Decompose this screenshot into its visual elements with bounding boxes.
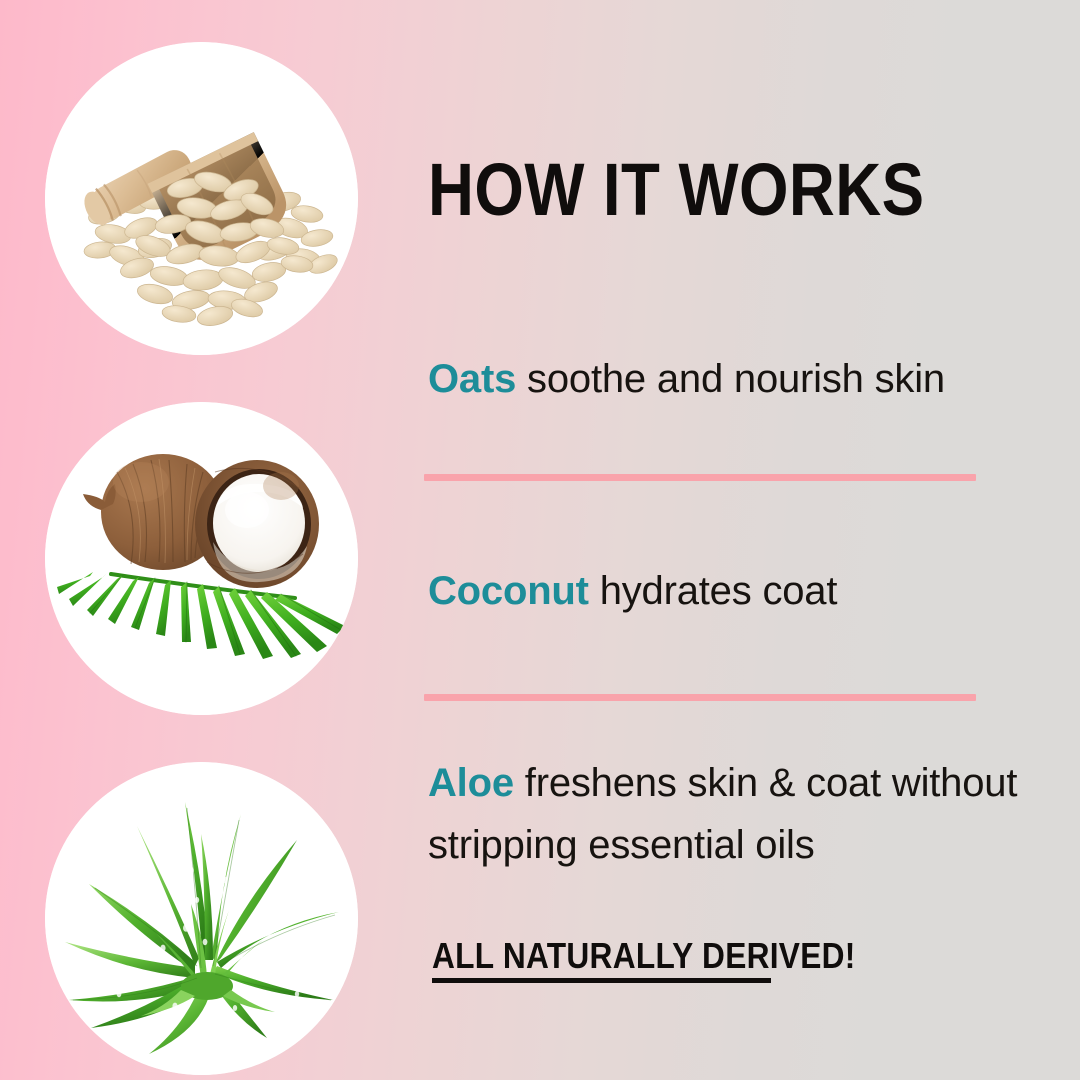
aloe-vera-plant-photo [45,762,358,1075]
oats-in-wooden-scoop-photo [45,42,358,355]
ingredient-image-aloe [45,762,358,1075]
ingredient-image-coconut [45,402,358,715]
divider-1 [424,474,976,481]
coconut-with-palm-leaf-photo [45,402,358,715]
content-column: HOW IT WORKS Oats soothe and nourish ski… [424,0,1044,1080]
benefit-keyword-aloe: Aloe [428,761,514,805]
tagline-underline [432,978,771,983]
benefit-text-oats: soothe and nourish skin [516,357,945,401]
benefit-oats: Oats soothe and nourish skin [428,348,945,410]
benefit-text-coconut: hydrates coat [589,569,837,613]
benefit-aloe: Aloe freshens skin & coat without stripp… [428,752,1043,876]
tagline-block: ALL NATURALLY DERIVED! [432,936,913,983]
how-it-works-infographic: HOW IT WORKS Oats soothe and nourish ski… [0,0,1080,1080]
page-title: HOW IT WORKS [428,152,925,228]
benefit-coconut: Coconut hydrates coat [428,560,837,622]
divider-2 [424,694,976,701]
benefit-keyword-coconut: Coconut [428,569,589,613]
benefit-text-aloe: freshens skin & coat without stripping e… [428,761,1017,867]
benefit-keyword-oats: Oats [428,357,516,401]
ingredient-image-oats [45,42,358,355]
tagline: ALL NATURALLY DERIVED! [432,936,856,976]
